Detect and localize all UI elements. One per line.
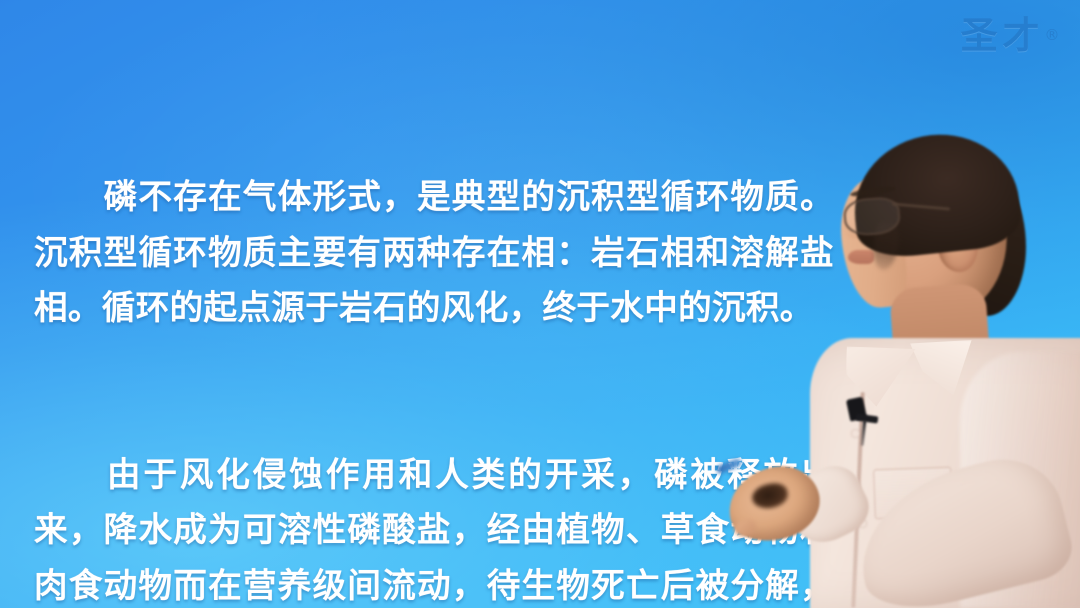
video-frame: 圣才® 磷不存在气体形式，是典型的沉积型循环物质。沉积型循环物质主要有两种存在相… <box>0 0 1080 608</box>
registered-trademark-icon: ® <box>1045 26 1060 44</box>
brand-watermark: 圣才® <box>954 6 1066 64</box>
slide-paragraph-2: 由于风化侵蚀作用和人类的开采，磷被释放出来，降水成为可溶性磷酸盐，经由植物、草食… <box>34 447 834 608</box>
slide-paragraph-1: 磷不存在气体形式，是典型的沉积型循环物质。沉积型循环物质主要有两种存在相：岩石相… <box>34 169 834 336</box>
slide-text-block: 磷不存在气体形式，是典型的沉积型循环物质。沉积型循环物质主要有两种存在相：岩石相… <box>34 58 834 608</box>
watermark-brand-text: 圣才 <box>961 17 1045 54</box>
